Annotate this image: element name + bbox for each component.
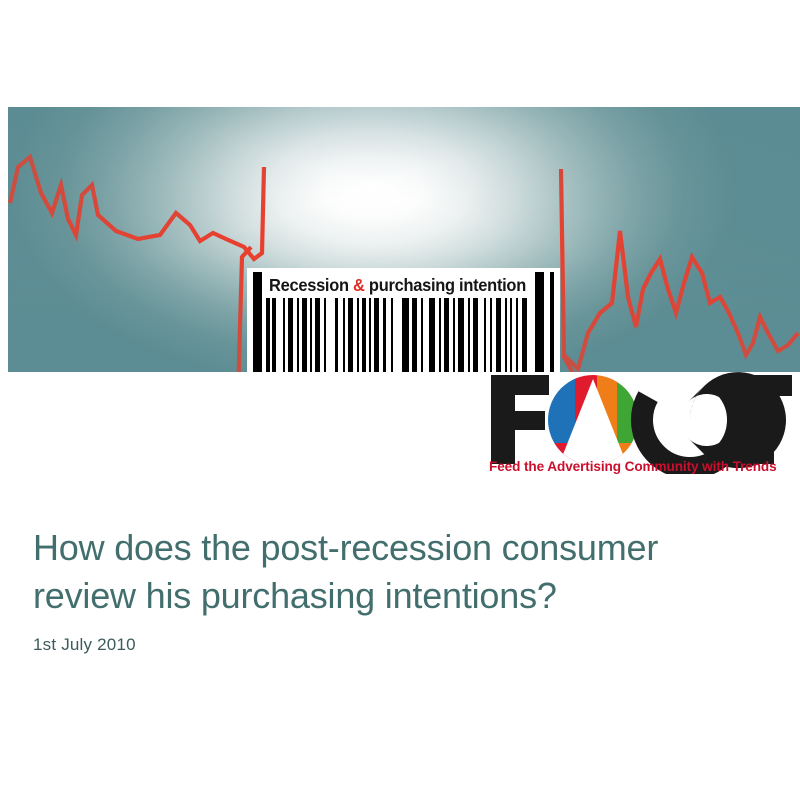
barcode-caption-suffix: purchasing intention — [365, 275, 526, 295]
logo-letter-f — [491, 375, 549, 464]
barcode-panel: Recession & purchasing intention — [247, 268, 560, 372]
slide-date: 1st July 2010 — [33, 634, 763, 656]
barcode-caption-ampersand: & — [353, 275, 365, 295]
page-title: How does the post-recession consumer rev… — [33, 524, 763, 620]
title-block: How does the post-recession consumer rev… — [33, 524, 763, 656]
recession-banner-image: Recession & purchasing intention — [8, 107, 800, 372]
barcode-caption: Recession & purchasing intention — [269, 272, 525, 298]
logo-tagline: Feed the Advertising Community with Tren… — [489, 459, 777, 474]
barcode-caption-prefix: Recession — [269, 275, 353, 295]
fact-logo: Feed the Advertising Community with Tren… — [487, 369, 792, 474]
slide-canvas: Recession & purchasing intention — [0, 0, 800, 800]
